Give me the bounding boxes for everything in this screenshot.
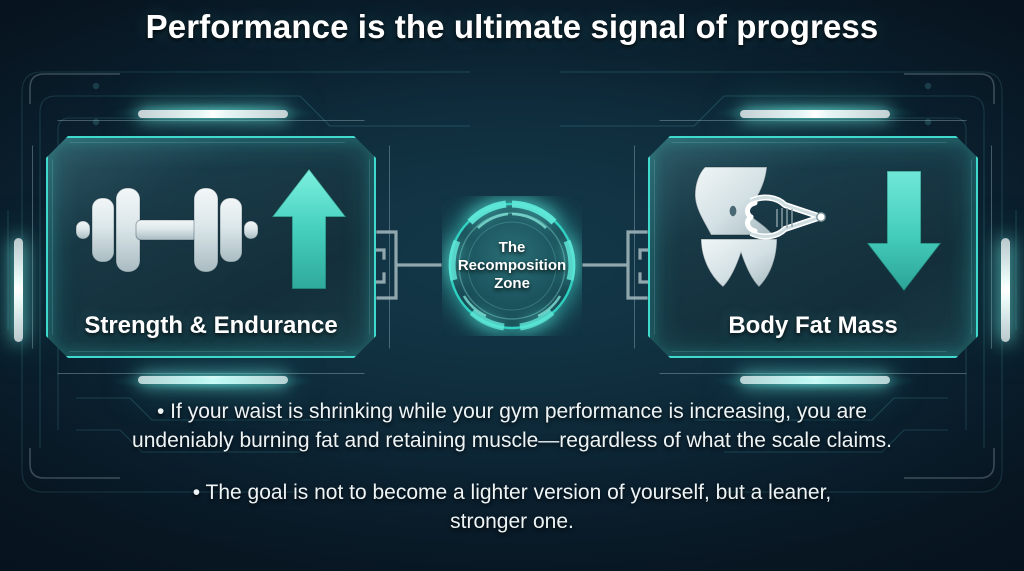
bullet-list: • If your waist is shrinking while your …: [0, 398, 1024, 536]
recomposition-zone-hub[interactable]: The Recomposition Zone: [442, 196, 582, 336]
card-label-body-fat: Body Fat Mass: [648, 312, 978, 340]
page-title: Performance is the ultimate signal of pr…: [0, 8, 1024, 46]
card-body-fat-mass[interactable]: Body Fat Mass: [648, 136, 978, 358]
card-label-strength: Strength & Endurance: [46, 312, 376, 340]
card-top-glow-bar: [740, 110, 890, 118]
card-icon-row: [46, 156, 376, 304]
torso-caliper-icon: [681, 161, 857, 299]
card-strength-endurance[interactable]: Strength & Endurance: [46, 136, 376, 358]
card-bottom-glow-bar: [138, 376, 288, 384]
infographic-stage: Performance is the ultimate signal of pr…: [0, 0, 1024, 571]
card-icon-row: [648, 156, 978, 304]
card-top-glow-bar: [138, 110, 288, 118]
arrow-down-icon: [863, 165, 945, 295]
card-bottom-glow-bar: [740, 376, 890, 384]
right-edge-glow-bar: [1001, 238, 1010, 342]
bullet-item: • The goal is not to become a lighter ve…: [0, 479, 1024, 536]
left-edge-glow-bar: [14, 238, 23, 342]
bullet-item: • If your waist is shrinking while your …: [0, 398, 1024, 455]
dumbbell-icon: [72, 170, 262, 290]
arrow-up-icon: [268, 165, 350, 295]
hub-rings: [442, 196, 582, 336]
